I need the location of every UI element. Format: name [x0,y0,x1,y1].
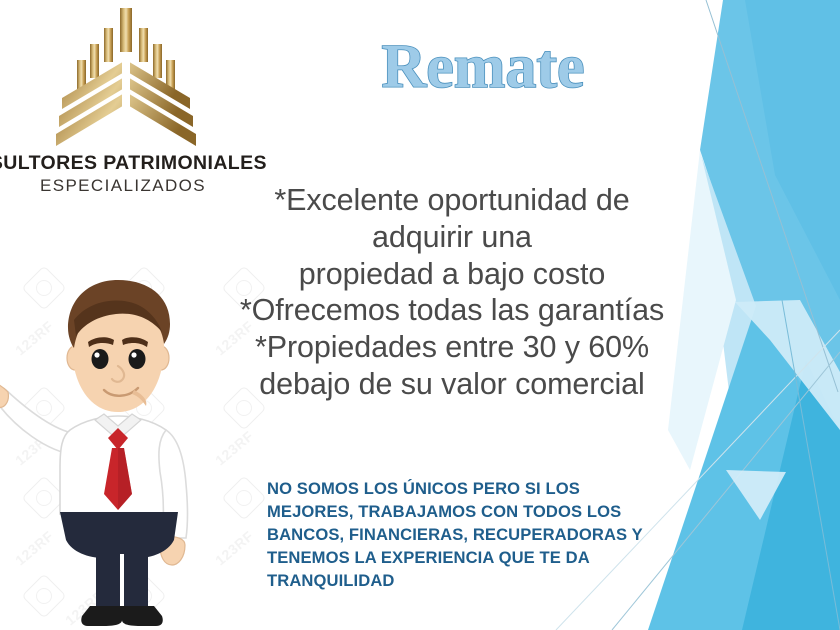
pitch-line: NO SOMOS LOS ÚNICOS PERO SI LOS [267,478,617,501]
character-eye-right [129,349,146,369]
cartoon-businessman-waving-illustration [0,262,244,630]
character-shoe-left [81,606,122,626]
pitch-line: MEJORES, TRABAJAMOS CON TODOS LOS [267,501,617,524]
page-title: Remate [318,36,648,98]
body-copy-line: *Excelente oportunidad de [196,182,708,219]
character-eye-glint [94,352,99,357]
character-leg-left [96,552,120,610]
deco-hairline-4 [782,300,840,630]
deco-shape-pale-mid [700,152,840,530]
character-eye-glint [131,352,136,357]
character-leg-gap [120,554,124,612]
deco-shape-pale-sliver [735,300,840,430]
deco-shape-chip [726,470,786,520]
pyramid-building-logo-icon [46,6,206,151]
deco-hairline-1 [706,0,838,392]
body-copy: *Excelente oportunidad de adquirir una p… [196,182,708,403]
deco-shape-sky-top [700,0,840,470]
body-copy-line: *Ofrecemos todas las garantías [196,292,708,329]
pitch-line: BANCOS, FINANCIERAS, RECUPERADORAS Y [267,524,617,547]
pitch-paragraph: NO SOMOS LOS ÚNICOS PERO SI LOS MEJORES,… [267,478,617,592]
deco-shape-sky-deep [742,360,840,630]
body-copy-line: *Propiedades entre 30 y 60% [196,329,708,366]
character-shoe-right [122,606,163,626]
logo-company-name: ISULTORES PATRIMONIALES [0,152,252,175]
deco-shape-sky-top-overlap [745,0,840,300]
character-eye-left [92,349,109,369]
character-leg-right [124,552,148,610]
slide-canvas: 123RF 123RF 123RF 123RF 123RF 123RF 123R… [0,0,840,630]
body-copy-line: propiedad a bajo costo [196,256,708,293]
body-copy-line: adquirir una [196,219,708,256]
pitch-line: TRANQUILIDAD [267,570,617,593]
body-copy-line: debajo de su valor comercial [196,366,708,403]
brand-logo: ISULTORES PATRIMONIALES ESPECIALIZADOS [0,6,252,196]
pitch-line: TENEMOS LA EXPERIENCIA QUE TE DA [267,547,617,570]
